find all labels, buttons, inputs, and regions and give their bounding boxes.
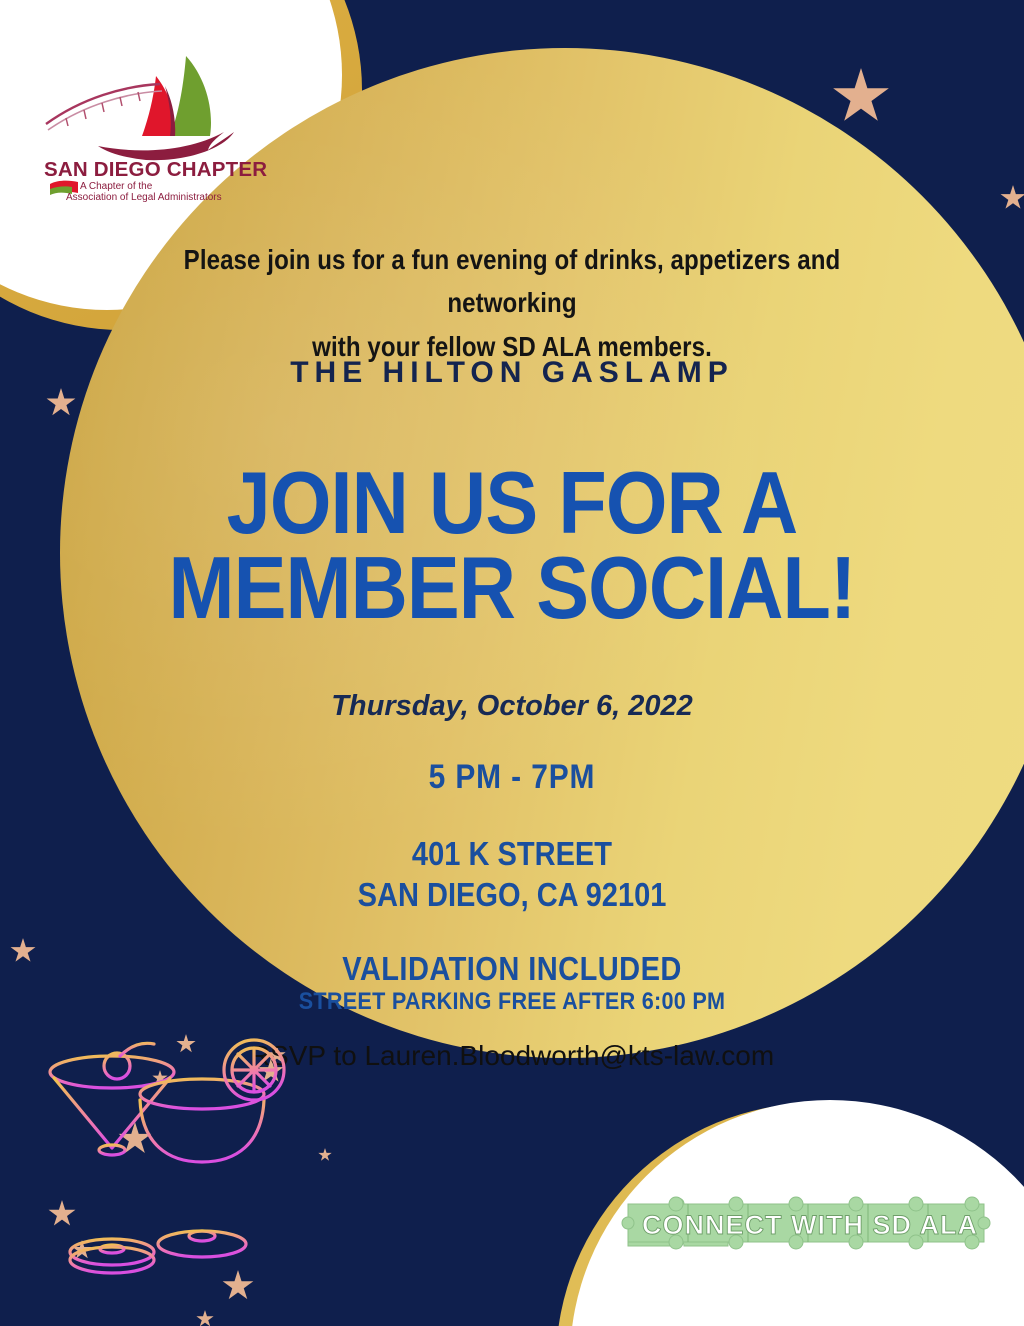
- intro-text: Please join us for a fun evening of drin…: [116, 238, 907, 368]
- puzzle-banner-icon: CONNECT WITH SD ALA: [620, 1186, 1000, 1258]
- event-address: 401 K STREET SAN DIEGO, CA 92101: [116, 833, 908, 916]
- parking-note: STREET PARKING FREE AFTER 6:00 PM: [107, 988, 917, 1016]
- cocktail-illustration: [20, 1020, 320, 1310]
- address-line-2: SAN DIEGO, CA 92101: [116, 874, 908, 915]
- venue-name: THE HILTON GASLAMP: [62, 356, 962, 390]
- cocktail-glasses-icon: [20, 1020, 320, 1310]
- flyer-canvas: SAN DIEGO CHAPTER A Chapter of the Assoc…: [0, 0, 1024, 1326]
- headline: JOIN US FOR A MEMBER SOCIAL!: [107, 460, 917, 631]
- connect-banner[interactable]: CONNECT WITH SD ALA: [620, 1186, 1000, 1258]
- connect-banner-label: CONNECT WITH SD ALA: [642, 1210, 978, 1240]
- event-date: Thursday, October 6, 2022: [62, 690, 962, 723]
- validation-note: VALIDATION INCLUDED: [116, 950, 908, 988]
- headline-line-2: MEMBER SOCIAL!: [107, 545, 917, 630]
- address-line-1: 401 K STREET: [116, 833, 908, 874]
- intro-line-1: Please join us for a fun evening of drin…: [116, 238, 907, 325]
- headline-line-1: JOIN US FOR A: [107, 460, 917, 545]
- event-time: 5 PM - 7PM: [116, 758, 908, 797]
